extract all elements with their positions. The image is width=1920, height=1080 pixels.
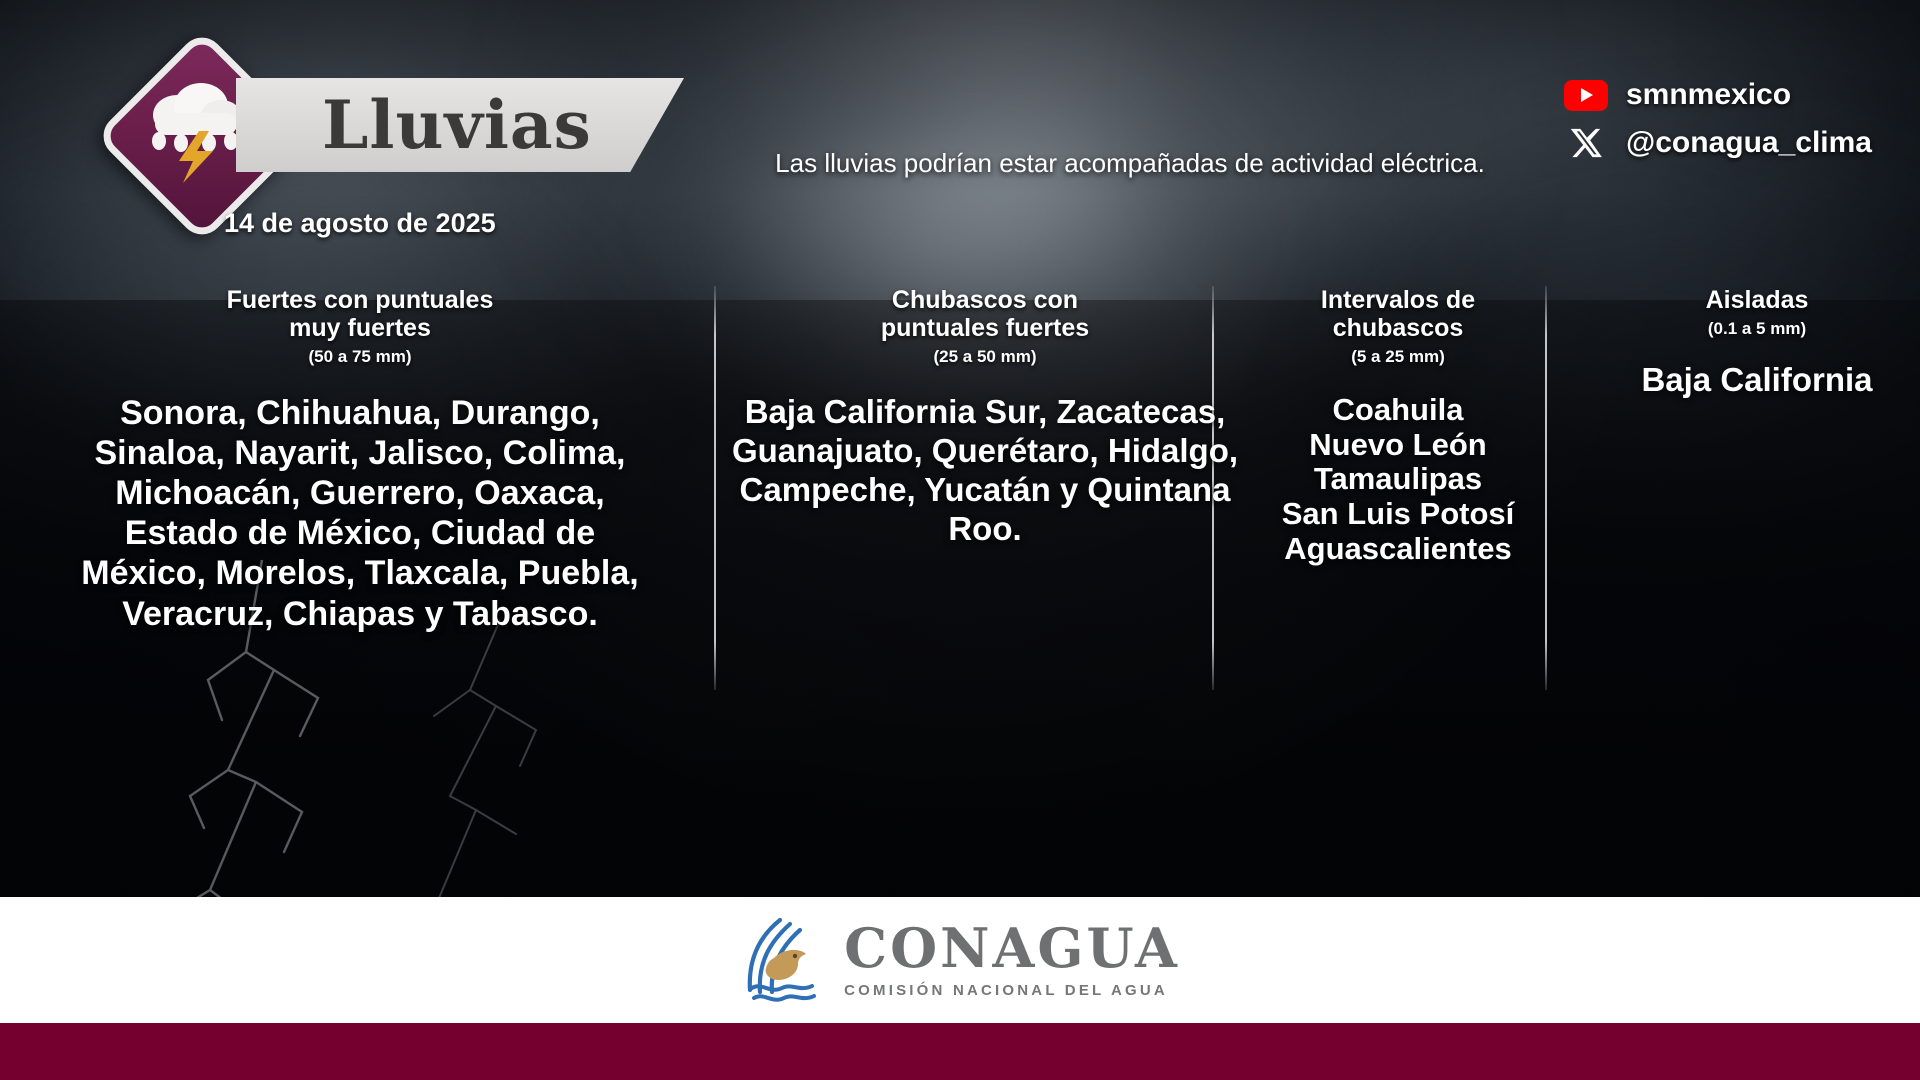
infographic-canvas: Lluvias 14 de agosto de 2025 Las lluvias… <box>0 0 1920 1080</box>
category-title-line1: Intervalos de <box>1248 286 1548 314</box>
category-states-list: Sonora, Chihuahua, Durango, Sinaloa, Nay… <box>60 393 660 634</box>
date-label: 14 de agosto de 2025 <box>224 208 496 239</box>
category-range: (0.1 a 5 mm) <box>1592 319 1920 339</box>
social-row-x[interactable]: @conagua_clima <box>1564 126 1872 160</box>
category-states-list: Baja California Sur, Zacatecas, Guanajua… <box>730 393 1240 549</box>
category-title-line2: puntuales fuertes <box>730 314 1240 342</box>
column-divider <box>714 286 716 690</box>
conagua-logo: CONAGUA COMISIÓN NACIONAL DEL AGUA <box>740 914 1180 1006</box>
category-states-list: Coahuila Nuevo León Tamaulipas San Luis … <box>1248 393 1548 567</box>
category-column-chubascos-puntuales: Chubascos con puntuales fuertes (25 a 50… <box>730 286 1240 549</box>
category-title: Aisladas <box>1592 286 1920 314</box>
category-title-line1: Fuertes con puntuales <box>60 286 660 314</box>
x-twitter-icon <box>1564 126 1608 160</box>
category-column-intervalos: Intervalos de chubascos (5 a 25 mm) Coah… <box>1248 286 1548 567</box>
category-title-line2: chubascos <box>1248 314 1548 342</box>
footer-bar: CONAGUA COMISIÓN NACIONAL DEL AGUA <box>0 897 1920 1023</box>
page-title: Lluvias <box>322 92 592 158</box>
category-column-aisladas: Aisladas (0.1 a 5 mm) Baja California <box>1592 286 1920 400</box>
category-title: Chubascos con puntuales fuertes <box>730 286 1240 342</box>
youtube-icon <box>1564 78 1608 112</box>
category-title-line1: Chubascos con <box>730 286 1240 314</box>
conagua-tagline: COMISIÓN NACIONAL DEL AGUA <box>844 982 1180 999</box>
conagua-eagle-water-logo-icon <box>740 914 826 1006</box>
social-row-youtube[interactable]: smnmexico <box>1564 78 1872 112</box>
category-column-fuertes: Fuertes con puntuales muy fuertes (50 a … <box>60 286 660 634</box>
conagua-logo-text: CONAGUA COMISIÓN NACIONAL DEL AGUA <box>844 921 1180 999</box>
social-handle-youtube: smnmexico <box>1626 78 1791 112</box>
category-range: (25 a 50 mm) <box>730 347 1240 367</box>
category-range: (50 a 75 mm) <box>60 347 660 367</box>
category-title: Intervalos de chubascos <box>1248 286 1548 342</box>
category-states-list: Baja California <box>1592 361 1920 400</box>
conagua-wordmark: CONAGUA <box>844 921 1180 975</box>
subtitle-note: Las lluvias podrían estar acompañadas de… <box>720 148 1540 179</box>
rain-category-columns: Fuertes con puntuales muy fuertes (50 a … <box>0 286 1920 716</box>
title-ribbon: Lluvias <box>236 78 684 172</box>
category-range: (5 a 25 mm) <box>1248 347 1548 367</box>
social-handle-x: @conagua_clima <box>1626 126 1872 160</box>
social-links: smnmexico @conagua_clima <box>1564 78 1872 160</box>
bottom-accent-bar <box>0 1023 1920 1080</box>
category-title: Fuertes con puntuales muy fuertes <box>60 286 660 342</box>
category-title-line2: muy fuertes <box>60 314 660 342</box>
category-title-line1: Aisladas <box>1592 286 1920 314</box>
